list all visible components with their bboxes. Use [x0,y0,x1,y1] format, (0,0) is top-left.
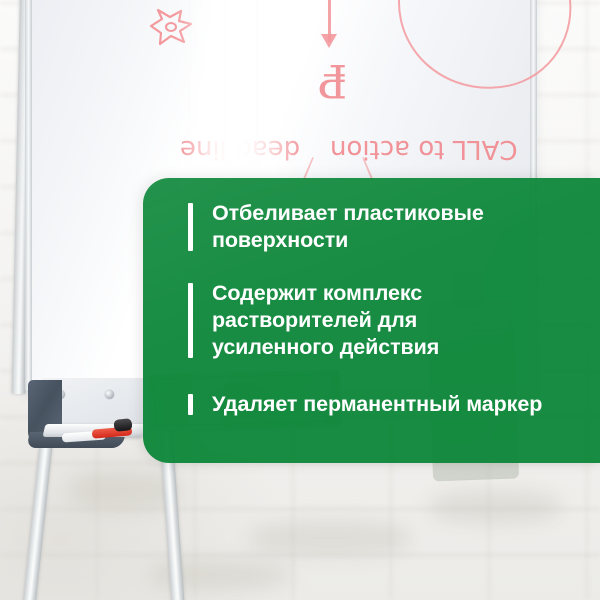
tray-screw [105,390,114,399]
wall-texture-blob [250,520,410,556]
marker-black [113,418,132,432]
benefit-item-3-label: Удаляет перманентный маркер [212,391,600,418]
benefits-list: Отбеливает пластиковые поверхности Содер… [188,200,588,418]
benefit-item-1-label: Отбеливает пластиковые поверхности [212,200,512,254]
ruble-sign-mark: ₽ [318,54,347,108]
benefit-item-1: Отбеливает пластиковые поверхности [188,200,588,254]
screenshot-stage: ₽ dead line CALL to action 100 Отбеливае… [0,0,600,600]
benefit-item-2-label: Содержит комплекс растворителей для усил… [212,280,492,361]
whiteboard-frame-left [25,0,32,390]
handwriting-deadline: dead line [180,134,300,164]
benefit-item-3: Удаляет перманентный маркер [188,391,588,418]
benefits-panel: Отбеливает пластиковые поверхности Содер… [143,178,600,463]
star-burst-mark [148,8,194,48]
arrow-head-mark [321,34,337,48]
handwriting-call-to-action: CALL to action [330,134,518,164]
benefit-item-2: Содержит комплекс растворителей для усил… [188,280,588,361]
wall-texture-blob [430,490,560,524]
